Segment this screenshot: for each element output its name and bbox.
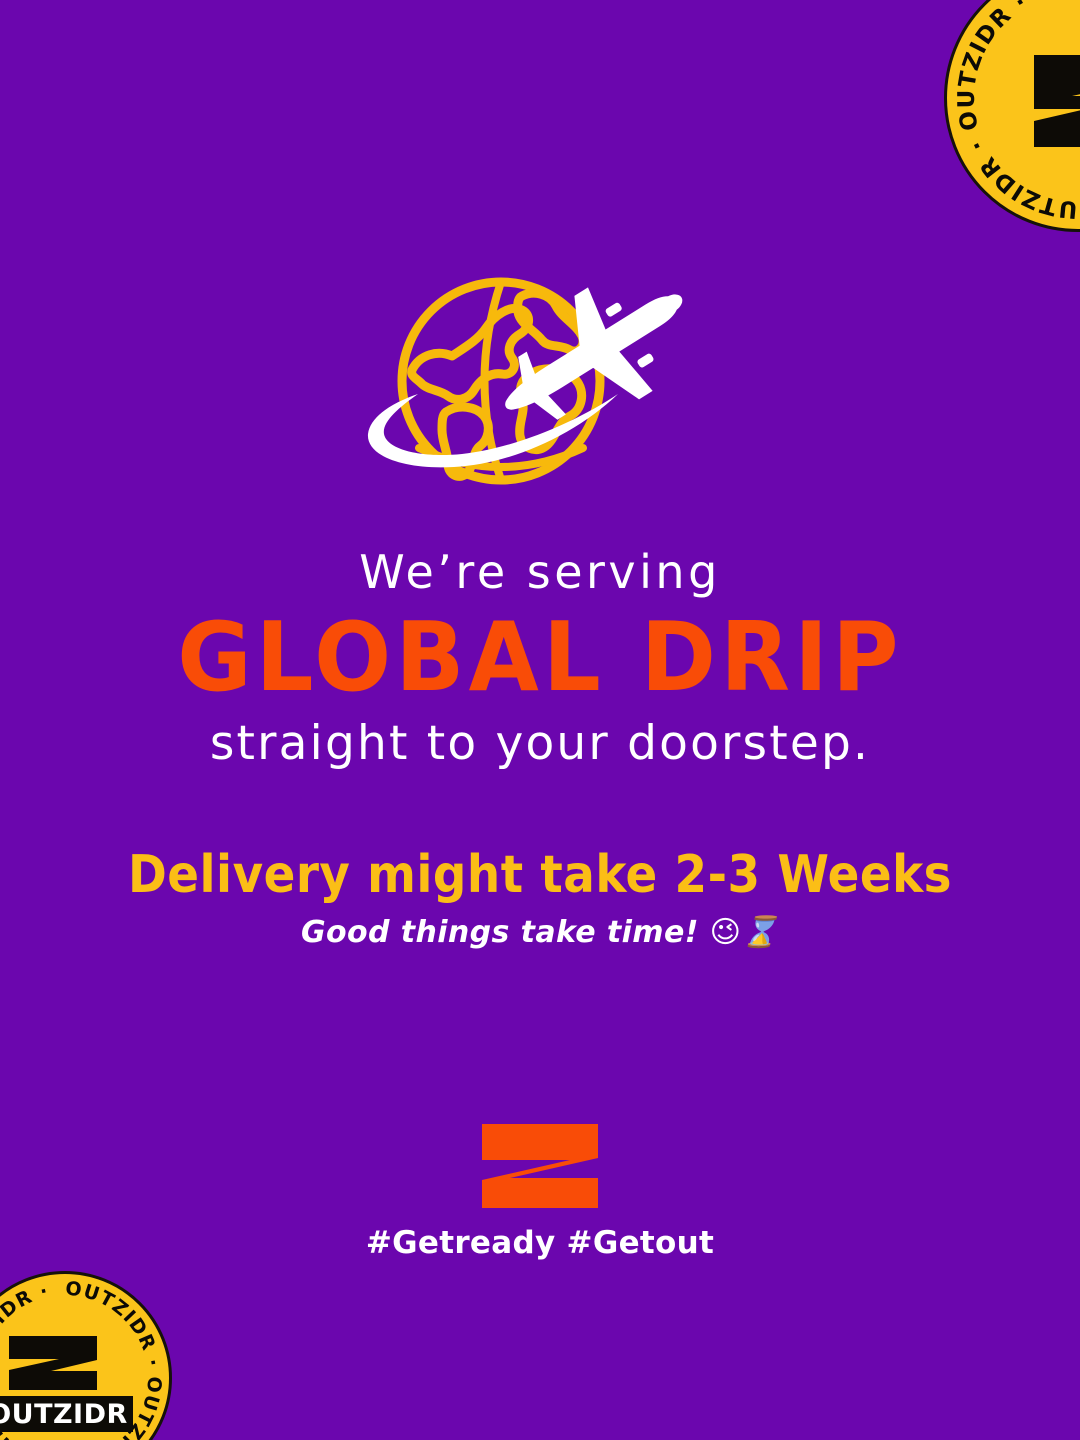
outzidr-badge-bottom-left: OUTZIDR · OUTZIDR · OUTZIDR · OUTZIDR · … — [0, 1271, 172, 1440]
outzidr-badge-top-right: OUTZIDR · OUTZIDR · OUTZIDR · OUTZIDR · … — [944, 0, 1080, 232]
badge-ring-label: OUTZIDR · OUTZIDR · OUTZIDR · OUTZIDR · … — [947, 0, 1080, 222]
badge-wordmark: OUTZIDR — [0, 1396, 133, 1432]
copy-block: We’re serving GLOBAL DRIP straight to yo… — [0, 548, 1080, 949]
headline-text: GLOBAL DRIP — [0, 602, 1080, 714]
globe-airplane-illustration — [360, 276, 720, 508]
badge-z-mark — [9, 1336, 97, 1390]
badge-z-mark — [1034, 55, 1080, 147]
eyebrow-text: We’re serving — [0, 548, 1080, 596]
subhead-text: straight to your doorstep. — [0, 718, 1080, 770]
svg-text:OUTZIDR: OUTZIDR — [0, 1399, 128, 1430]
promo-poster: OUTZIDR · OUTZIDR · OUTZIDR · OUTZIDR · … — [0, 0, 1080, 1440]
delivery-notice-text: Delivery might take 2-3 Weeks — [0, 846, 1080, 904]
footer-brand: #Getready #Getout — [0, 1122, 1080, 1261]
hashtags-text: #Getready #Getout — [0, 1225, 1080, 1261]
outzidr-z-logo — [478, 1122, 602, 1210]
reassurance-text: Good things take time! 😉⌛ — [0, 916, 1080, 949]
